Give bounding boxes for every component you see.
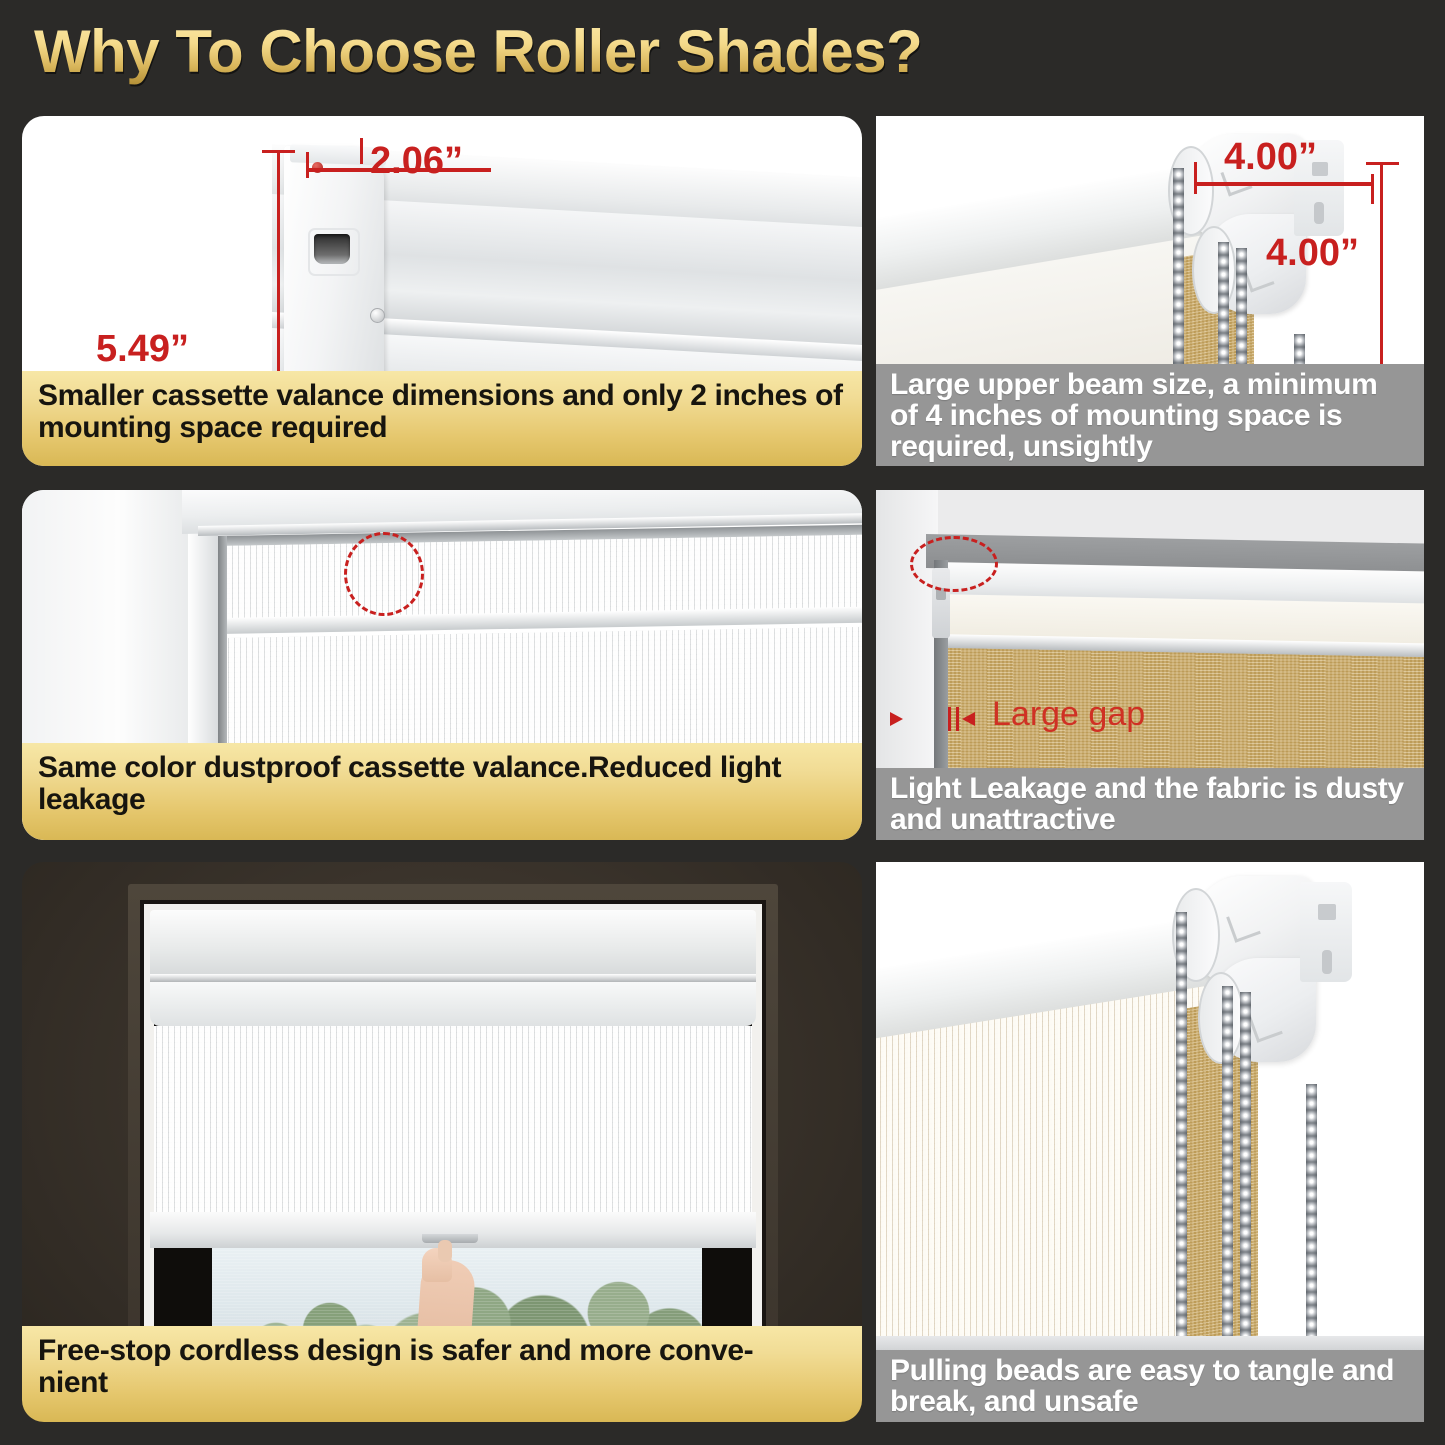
caption-text: Smaller cassette valance dimensions and … [38, 380, 846, 445]
caption-large-upper-beam: Large upper beam size, a minimum of 4 in… [876, 364, 1424, 466]
gap-arrow-left [890, 712, 903, 726]
bead-chain [1222, 986, 1233, 1380]
page-title: Why To Choose Roller Shades? [34, 17, 922, 86]
panel-cassette-valance-dimensions: 5.49” 2.06” Smaller cassette valance dim… [22, 116, 862, 466]
pulling-beads-photo [876, 862, 1424, 1422]
title-bar: Why To Choose Roller Shades? [0, 0, 1445, 112]
panel-dustproof-cassette-valance: smaller gap Same color dustproof cassett… [22, 490, 862, 840]
panel-light-leakage: Large gap Light Leakage and the fabric i… [876, 490, 1424, 840]
bead-chain [1240, 992, 1251, 1380]
depth-dimension-label: 2.06” [370, 140, 463, 183]
panel-free-stop-cordless: Free-stop cordless design is safer and m… [22, 862, 862, 1422]
bracket-highlight-circle [910, 536, 998, 592]
gap-arrow-right [962, 712, 975, 726]
large-gap-label: Large gap [992, 695, 1145, 734]
height-dimension-label: 5.49” [96, 328, 189, 371]
bead-chain [1176, 912, 1187, 1380]
beam-height-dimension-label: 4.00” [1266, 232, 1359, 275]
caption-free-stop-cordless: Free-stop cordless design is safer and m… [22, 1326, 862, 1422]
panel-large-upper-beam: 4.00” 4.00” Large upper beam size, a min… [876, 116, 1424, 466]
caption-cassette-valance-dimensions: Smaller cassette valance dimensions and … [22, 371, 862, 466]
valance-highlight-circle [344, 532, 424, 616]
caption-text: Pulling beads are easy to tangle and bre… [890, 1356, 1410, 1418]
beam-width-dimension-line [1194, 182, 1374, 186]
caption-text: Free-stop cordless design is safer and m… [38, 1335, 753, 1400]
caption-text: Same color dustproof cassette valance.Re… [38, 752, 846, 817]
panel-pulling-beads: Pulling beads are easy to tangle and bre… [876, 862, 1424, 1422]
caption-text: Large upper beam size, a minimum of 4 in… [890, 370, 1410, 463]
beam-width-dimension-label: 4.00” [1224, 136, 1317, 179]
caption-text: Light Leakage and the fabric is dusty an… [890, 774, 1410, 836]
caption-dustproof-cassette-valance: Same color dustproof cassette valance.Re… [22, 743, 862, 840]
caption-light-leakage: Light Leakage and the fabric is dusty an… [876, 768, 1424, 840]
caption-pulling-beads: Pulling beads are easy to tangle and bre… [876, 1350, 1424, 1422]
